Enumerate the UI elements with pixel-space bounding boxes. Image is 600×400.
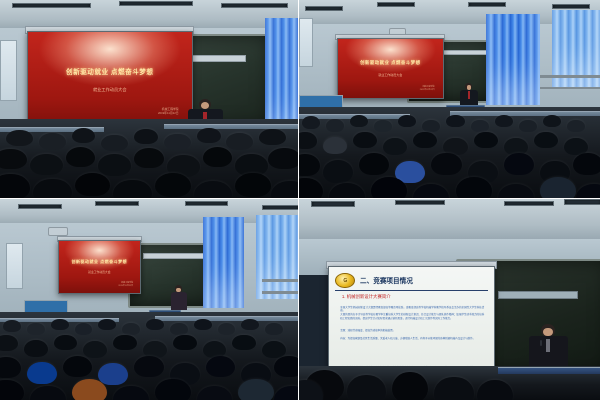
slide-logo-icon: G: [335, 273, 355, 289]
audience-crowd: [299, 107, 600, 198]
audience-head: [30, 154, 63, 175]
audience-head: [197, 386, 233, 400]
window-curtain: [256, 215, 298, 299]
audience-head: [398, 115, 416, 127]
speaker-body: [171, 292, 187, 310]
audience-head: [241, 319, 259, 330]
audience-head: [238, 379, 274, 400]
slide-subtitle: 就业工作动员大会: [67, 270, 131, 274]
audience-head: [274, 386, 298, 400]
audience-head: [299, 178, 323, 198]
board-light-fixture: [143, 253, 211, 259]
audience-crowd: [299, 366, 600, 400]
audience-head: [383, 138, 407, 155]
audience-head: [540, 177, 576, 198]
audience-head: [471, 120, 489, 133]
projection-screen: 创新驱动就业 点燃奋斗梦想 就业工作动员大会 机械工程学院 2019年11月22…: [337, 38, 444, 99]
audience-head: [543, 115, 561, 127]
ceiling: [299, 199, 600, 243]
audience-head: [164, 134, 191, 151]
audience-head: [98, 319, 116, 330]
audience-head: [197, 128, 221, 143]
audience-head: [122, 323, 140, 335]
audience-head: [206, 356, 236, 377]
audience-head: [146, 319, 164, 330]
speaker-face: [467, 85, 472, 89]
audience-head: [134, 129, 158, 144]
audience-head: [72, 379, 108, 400]
audience-head: [477, 380, 513, 400]
slide-footer-date: 2019年11月22日: [158, 111, 179, 115]
audience-head: [0, 380, 24, 400]
audience-head: [534, 132, 558, 148]
audience-head: [576, 184, 600, 198]
slide-subtitle: 就业工作动员大会: [44, 87, 175, 93]
ceiling-light-icon: [395, 200, 445, 206]
audience-head: [302, 116, 320, 129]
audience-head: [519, 120, 537, 133]
audience-head: [194, 319, 212, 330]
speaker-face: [176, 288, 180, 292]
slide-paragraph: 主题：减轻劳动强度、提高劳动效率的机械装置。: [340, 329, 484, 333]
audience-head: [54, 335, 78, 351]
handrail: [540, 75, 600, 77]
window-curtain: [203, 217, 245, 307]
slide-footer-org: 机械工程学院: [121, 282, 133, 284]
audience-head: [323, 160, 353, 183]
slide-title: 创新驱动就业 点燃奋斗梦想: [64, 259, 135, 265]
audience-head: [203, 341, 227, 358]
audience-head: [326, 119, 344, 132]
slide-red-title: 创新驱动就业 点燃奋斗梦想 就业工作动员大会 机械工程学院 2019年11月22…: [338, 39, 443, 98]
audience-head: [27, 362, 57, 384]
audience-head: [456, 177, 492, 198]
audience-crowd: [0, 119, 298, 198]
speaker-face: [543, 328, 552, 336]
slide-paragraph: 内容：为提高家庭及社区生活质量、关爱老人和儿童、方便残疾人生活、有利于节能环保的…: [340, 337, 484, 341]
handrail: [262, 291, 298, 294]
audience-head: [446, 115, 464, 127]
audience-head: [431, 153, 461, 175]
projector: [48, 227, 68, 236]
audience-head: [434, 377, 473, 400]
audience-head: [0, 335, 18, 351]
audience-head: [155, 173, 191, 197]
ceiling-light-icon: [12, 3, 91, 8]
audience-head: [422, 120, 440, 133]
ceiling-light-icon: [119, 1, 193, 6]
audience-head: [413, 132, 437, 148]
slide-footer: 机械工程学院 2019年11月22日: [158, 107, 179, 115]
audience-head: [271, 181, 298, 198]
audience-head: [259, 129, 286, 145]
audience-head: [0, 149, 27, 170]
audience-head: [323, 137, 347, 154]
audience-head: [173, 335, 197, 351]
desk-row: [498, 367, 600, 374]
ceiling-light-icon: [564, 199, 600, 205]
handrail: [540, 87, 600, 89]
photo-top-left: 创新驱动就业 点燃奋斗梦想 就业工作动员大会 机械工程学院 2019年11月22…: [0, 0, 299, 199]
audience-head: [39, 133, 66, 150]
audience-head: [232, 335, 256, 351]
photo-bottom-left: 创新驱动就业 点燃奋斗梦想 就业工作动员大会 机械工程学院 2019年11月22…: [0, 199, 299, 400]
audience-head: [495, 115, 513, 127]
ceiling-light-icon: [221, 3, 289, 8]
audience-head: [374, 120, 392, 133]
audience-head: [573, 153, 600, 175]
speaker-tie: [546, 339, 550, 351]
audience-head: [299, 132, 317, 148]
desk-row: [155, 316, 298, 321]
slide-paragraph: 全国大学生机械创新设计大赛是经教育部高等教育司批准，由教育部高等学校机械学科教学…: [340, 306, 484, 313]
ceiling-light-icon: [311, 201, 355, 207]
audience-head: [359, 153, 389, 175]
slide-paragraph: 大赛的目的在于引导高等学校在教学中注重培养大学生的创新设计意识、综合设计能力与团…: [340, 313, 484, 320]
handrail: [262, 279, 298, 282]
slide-footer: 机械工程学院 2019年11月22日: [118, 282, 133, 288]
ceiling-light-icon: [262, 205, 299, 210]
audience-head: [329, 183, 365, 198]
audience-head: [6, 130, 33, 146]
audience-head: [113, 386, 149, 400]
audience-head: [203, 147, 233, 167]
projection-screen: G 二、竞赛项目情况 1. 机械创新设计大赛简介 全国大学生机械创新设计大赛是经…: [328, 266, 496, 375]
audience-head: [66, 147, 96, 167]
audience-head: [72, 128, 96, 143]
audience-head: [83, 341, 107, 358]
speaker-tie: [468, 91, 470, 98]
audience-head: [268, 148, 298, 169]
audience-head: [353, 132, 377, 148]
ceiling-light-icon: [468, 2, 506, 7]
slide-footer-org: 机械工程学院: [423, 86, 435, 88]
slide-title: 创新驱动就业 点燃奋斗梦想: [38, 66, 182, 76]
ceiling-light-icon: [504, 201, 554, 207]
photo-bottom-right: G 二、竞赛项目情况 1. 机械创新设计大赛简介 全国大学生机械创新设计大赛是经…: [299, 199, 600, 400]
audience-head: [392, 372, 428, 400]
audience-head: [194, 181, 233, 198]
window-curtain: [486, 14, 540, 105]
ceiling-light-icon: [377, 2, 415, 7]
audience-head: [0, 174, 30, 198]
slide-red-title: 创新驱动就业 点燃奋斗梦想 就业工作动员大会 机械工程学院 2019年11月22…: [59, 241, 139, 293]
speaker-face: [201, 102, 210, 109]
audience-crowd: [0, 312, 298, 400]
audience-head: [504, 153, 534, 175]
audience-head: [3, 320, 21, 332]
audience-head: [30, 386, 66, 400]
audience-head: [299, 154, 320, 176]
audience-head: [134, 356, 164, 377]
audience-head: [170, 323, 188, 335]
ceiling-light-icon: [95, 201, 139, 206]
audience-head: [474, 132, 498, 148]
audience-head: [113, 180, 152, 198]
slide-divider: [335, 290, 487, 291]
audience-head: [63, 356, 93, 377]
audience-head: [134, 148, 164, 168]
audience-head: [0, 357, 21, 378]
slide-red-title: 创新驱动就业 点燃奋斗梦想 就业工作动员大会 机械工程学院 2019年11月22…: [28, 32, 192, 127]
slide-footer-date: 2019年11月22日: [118, 285, 133, 287]
photo-top-right: 创新驱动就业 点燃奋斗梦想 就业工作动员大会 机械工程学院 2019年11月22…: [299, 0, 600, 199]
audience-head: [27, 323, 45, 335]
audience-head: [235, 173, 271, 198]
audience-head: [155, 379, 191, 400]
slide-subtitle: 就业工作动员大会: [348, 73, 432, 77]
side-window: [0, 40, 17, 101]
slide-footer: 机械工程学院 2019年11月22日: [420, 86, 435, 92]
audience-head: [371, 177, 407, 198]
desk-row: [164, 124, 298, 129]
audience-head: [33, 179, 72, 198]
projection-screen: 创新驱动就业 点燃奋斗梦想 就业工作动员大会 机械工程学院 2019年11月22…: [27, 31, 193, 128]
board-light-fixture: [498, 291, 578, 298]
speaker-figure: [170, 285, 188, 311]
audience-head: [226, 133, 253, 150]
audience-head: [98, 154, 131, 175]
ceiling-light-icon: [185, 201, 229, 206]
audience-head: [98, 363, 128, 385]
slide-title: 创新驱动就业 点燃奋斗梦想: [344, 60, 437, 66]
audience-head: [101, 135, 128, 152]
ceiling-light-icon: [305, 6, 343, 11]
audience-head: [51, 319, 69, 330]
audience-head: [413, 184, 449, 198]
audience-head: [75, 173, 111, 197]
ceiling-light-icon: [552, 4, 590, 9]
audience-head: [347, 375, 386, 400]
audience-head: [567, 120, 585, 133]
audience-head: [262, 341, 286, 358]
audience-head: [265, 323, 283, 335]
audience-head: [143, 341, 167, 358]
side-window: [6, 243, 23, 289]
audience-head: [274, 356, 298, 377]
audience-head: [113, 335, 137, 351]
audience-head: [75, 323, 93, 335]
audience-head: [218, 323, 236, 335]
audience-head: [24, 340, 48, 357]
audience-head: [350, 115, 368, 127]
photo-collage: 创新驱动就业 点燃奋斗梦想 就业工作动员大会 机械工程学院 2019年11月22…: [0, 0, 600, 400]
slide-footer-date: 2019年11月22日: [420, 89, 435, 91]
slide-subtitle: 1. 机械创新设计大赛简介: [342, 294, 391, 300]
side-window: [299, 18, 313, 68]
slide-white-content: G 二、竞赛项目情况 1. 机械创新设计大赛简介 全国大学生机械创新设计大赛是经…: [329, 267, 495, 374]
slide-title: 二、竞赛项目情况: [360, 275, 413, 285]
projection-screen: 创新驱动就业 点燃奋斗梦想 就业工作动员大会 机械工程学院 2019年11月22…: [58, 240, 140, 294]
desk-row: [450, 111, 600, 116]
ceiling-light-icon: [18, 204, 62, 209]
audience-head: [498, 184, 534, 198]
